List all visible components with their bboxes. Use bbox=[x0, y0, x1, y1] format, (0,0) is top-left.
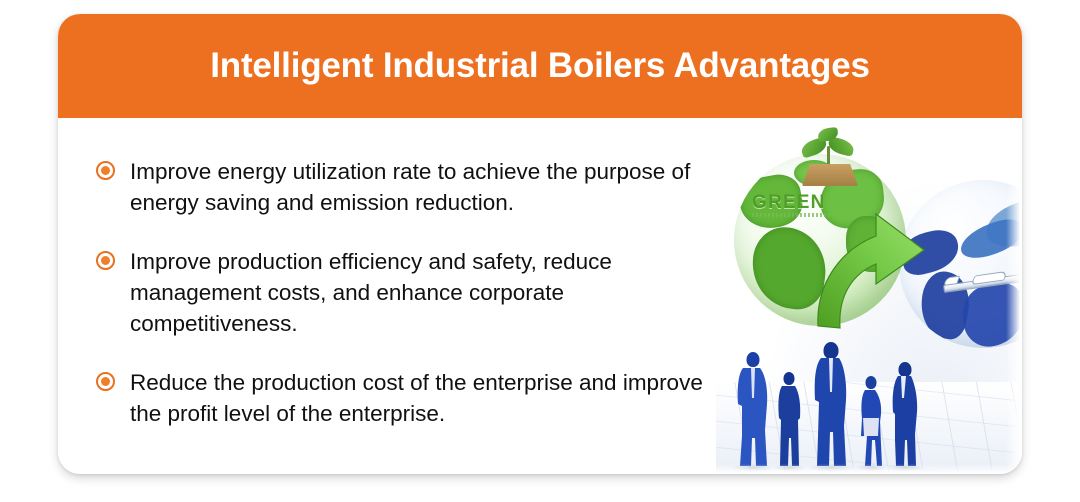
person-silhouette bbox=[736, 352, 770, 468]
person-silhouette bbox=[858, 376, 884, 468]
person-silhouette bbox=[776, 372, 802, 468]
green-upward-arrow-icon bbox=[812, 188, 942, 338]
bullet-circle-icon bbox=[96, 251, 115, 270]
list-item-label: Improve production efficiency and safety… bbox=[130, 246, 716, 339]
advantages-card: Intelligent Industrial Boilers Advantage… bbox=[58, 14, 1022, 474]
list-item: Improve production efficiency and safety… bbox=[96, 246, 716, 339]
card-body: Improve energy utilization rate to achie… bbox=[58, 118, 1022, 474]
bullet-circle-icon bbox=[96, 372, 115, 391]
person-silhouette bbox=[890, 362, 920, 468]
card-header: Intelligent Industrial Boilers Advantage… bbox=[58, 14, 1022, 118]
illustration-backdrop: GREEN bbox=[716, 118, 1022, 474]
advantages-list: Improve energy utilization rate to achie… bbox=[96, 156, 716, 429]
business-people-silhouettes-icon bbox=[734, 342, 944, 468]
list-item-label: Reduce the production cost of the enterp… bbox=[130, 367, 716, 429]
soil-mound-icon bbox=[802, 164, 858, 186]
illustration-image: GREEN bbox=[716, 118, 1022, 474]
list-item-label: Improve energy utilization rate to achie… bbox=[130, 156, 716, 218]
person-silhouette bbox=[812, 342, 850, 468]
plant-sprout-icon bbox=[792, 126, 866, 186]
image-edge-fade bbox=[1006, 118, 1022, 474]
list-item: Improve energy utilization rate to achie… bbox=[96, 156, 716, 218]
image-edge-fade bbox=[716, 464, 1022, 474]
list-item: Reduce the production cost of the enterp… bbox=[96, 367, 716, 429]
bullet-circle-icon bbox=[96, 161, 115, 180]
page-title: Intelligent Industrial Boilers Advantage… bbox=[210, 46, 870, 86]
